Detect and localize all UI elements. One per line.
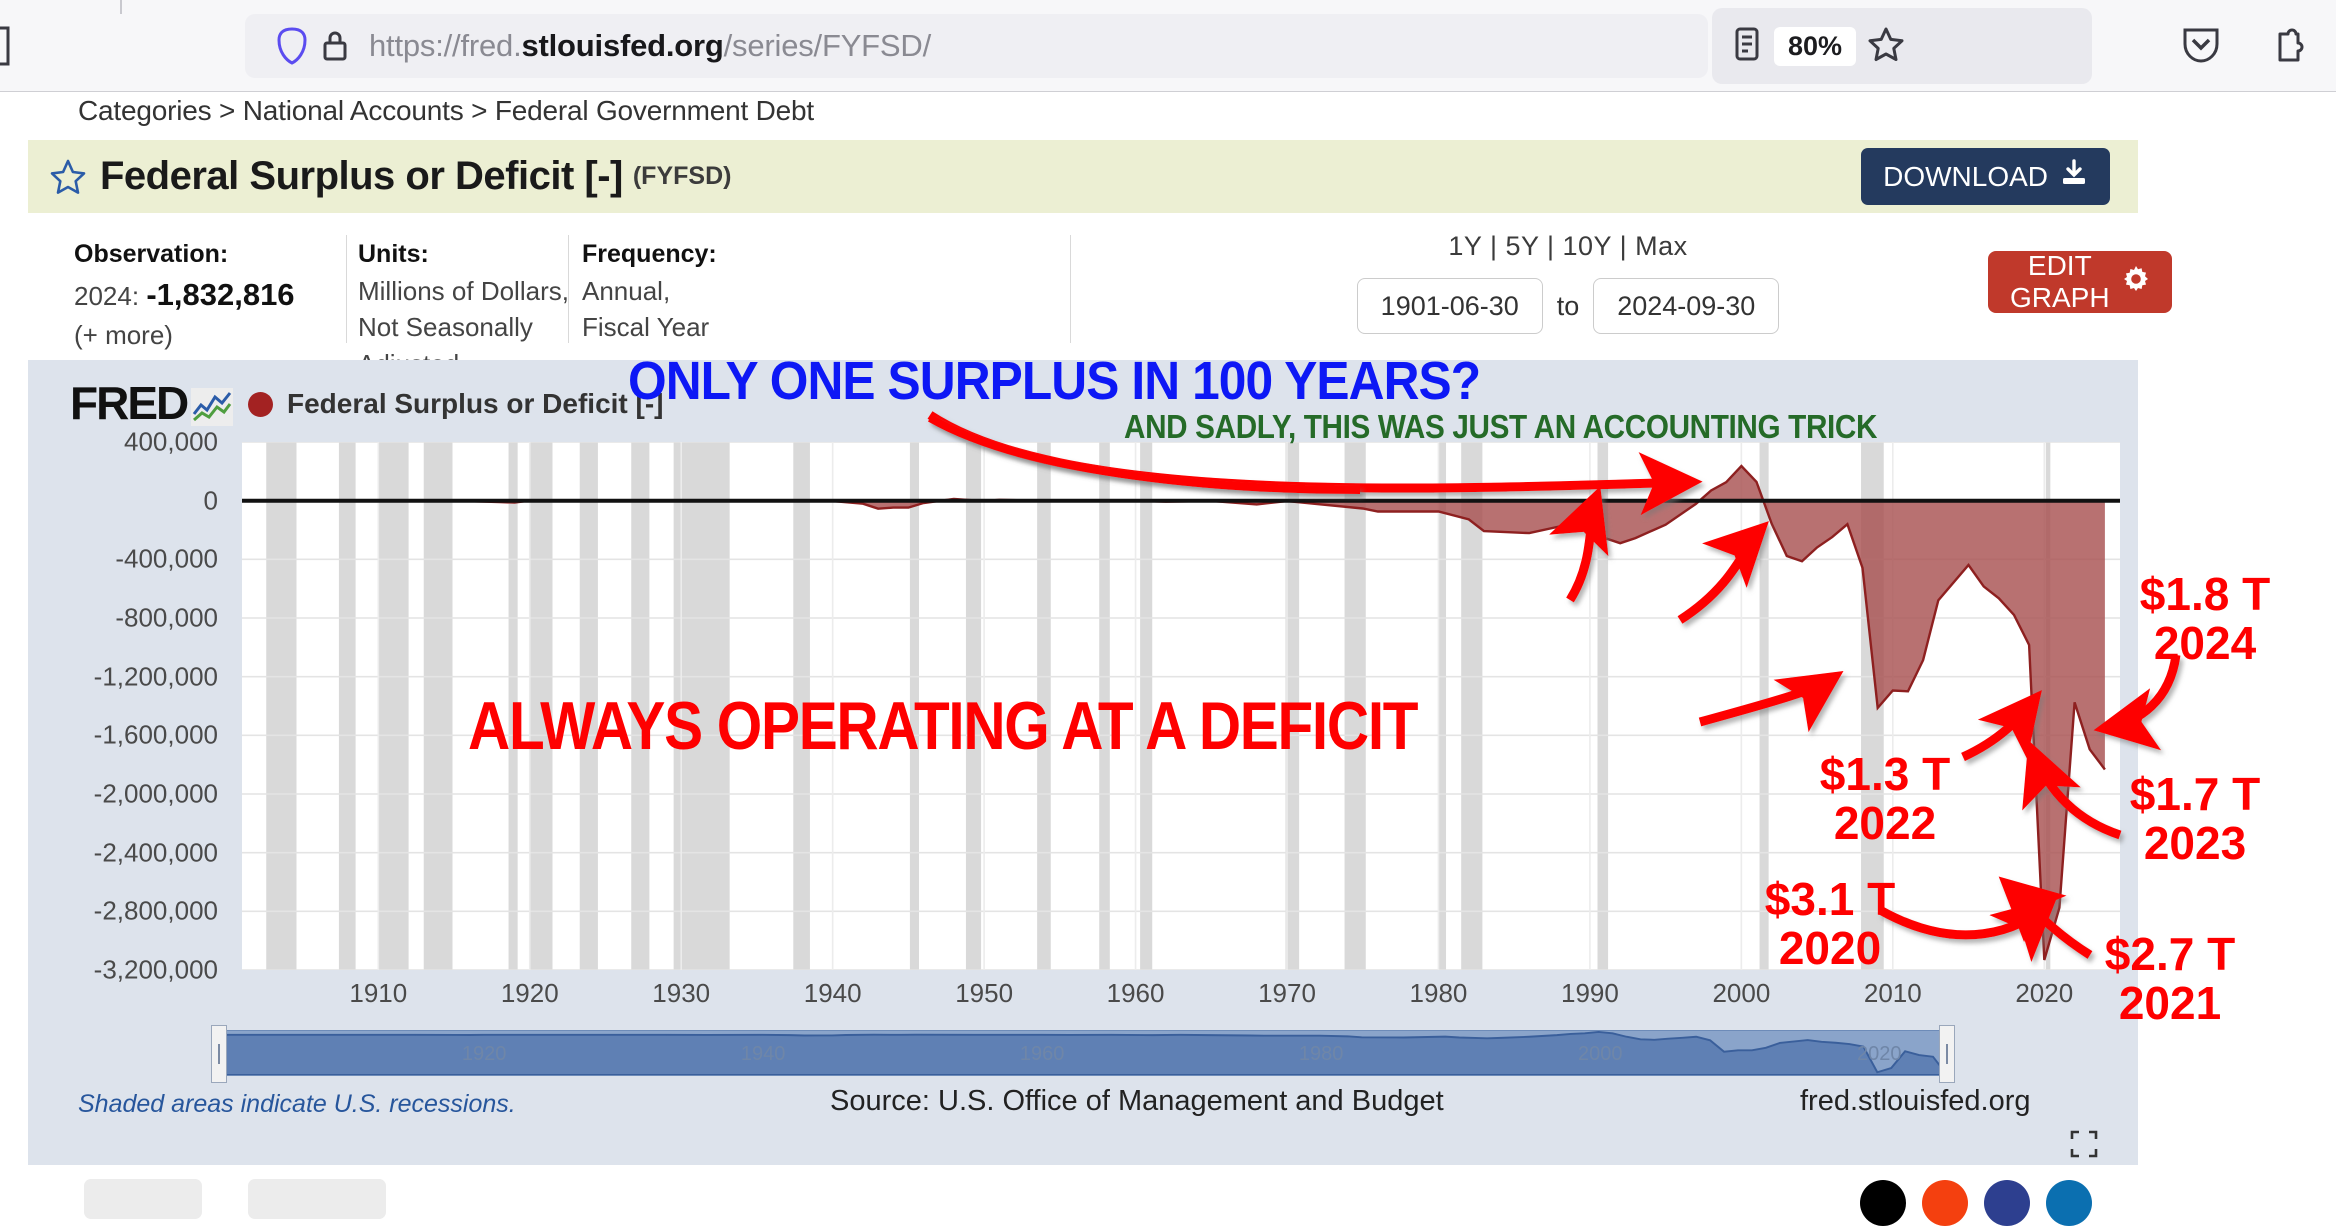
series-id: (FYFSD) <box>633 162 732 191</box>
series-title-band: Federal Surplus or Deficit [-] (FYFSD) D… <box>28 140 2138 213</box>
range-to-label: to <box>1557 291 1580 322</box>
x-tick-1990: 1990 <box>1561 978 1619 1009</box>
share-icon-x[interactable] <box>1860 1180 1906 1226</box>
zoom-level-badge[interactable]: 80% <box>1774 27 1856 66</box>
breadcrumb-separator: > <box>219 95 235 126</box>
callout-2023-year: 2023 <box>2120 819 2270 868</box>
tab-edge-stub <box>0 22 14 70</box>
minimap-tick-1920: 1920 <box>462 1043 507 1066</box>
tab-divider <box>120 0 122 14</box>
meta-observation-more[interactable]: (+ more) <box>74 317 354 354</box>
shield-icon[interactable] <box>269 26 315 66</box>
urlbar-actions: 80% <box>1712 8 2092 84</box>
edit-graph-button[interactable]: EDIT GRAPH <box>1988 251 2172 313</box>
y-tick--2000000: -2,000,000 <box>94 779 218 810</box>
meta-frequency-heading: Frequency: <box>582 237 782 273</box>
download-button[interactable]: DOWNLOAD <box>1861 148 2110 205</box>
x-tick-1910: 1910 <box>349 978 407 1009</box>
y-tick-400000: 400,000 <box>124 427 218 458</box>
edit-graph-button-label: EDIT GRAPH <box>2010 250 2110 314</box>
browser-chrome: https://fred.stlouisfed.org/series/FYFSD… <box>0 0 2336 92</box>
callout-2023-amount: $1.7 T <box>2120 770 2270 819</box>
bottom-button-left[interactable] <box>84 1179 202 1219</box>
meta-divider <box>568 235 569 343</box>
y-tick--1200000: -1,200,000 <box>94 661 218 692</box>
x-tick-1960: 1960 <box>1107 978 1165 1009</box>
x-tick-2000: 2000 <box>1712 978 1770 1009</box>
callout-2023: $1.7 T 2023 <box>2120 770 2270 868</box>
breadcrumb-item-federal-government-debt[interactable]: Federal Government Debt <box>495 95 814 126</box>
graph-panel: FRED Federal Surplus or Deficit [-] 400,… <box>28 360 2138 1165</box>
reader-view-icon[interactable] <box>1730 24 1764 69</box>
meta-observation-heading: Observation: <box>74 237 354 273</box>
pocket-icon[interactable] <box>2180 22 2222 71</box>
y-tick--3200000: -3,200,000 <box>94 955 218 986</box>
meta-units-line1: Millions of Dollars, <box>358 273 578 310</box>
fred-wordmark: FRED <box>70 382 187 426</box>
series-meta-row: Observation: 2024: -1,832,816 (+ more) U… <box>28 213 2138 358</box>
x-tick-1940: 1940 <box>804 978 862 1009</box>
download-icon <box>2060 159 2088 194</box>
star-bookmark-icon[interactable] <box>1866 24 1906 69</box>
range-to-input[interactable] <box>1593 278 1779 334</box>
y-tick--2400000: -2,400,000 <box>94 837 218 868</box>
y-tick--800000: -800,000 <box>115 603 218 634</box>
x-axis-tick-labels: 1910192019301940195019601970198019902000… <box>242 978 2120 1018</box>
minimap-tick-1980: 1980 <box>1299 1043 1344 1066</box>
x-tick-1980: 1980 <box>1410 978 1468 1009</box>
chart-legend: Federal Surplus or Deficit [-] <box>248 388 664 420</box>
range-preset-links[interactable]: 1Y | 5Y | 10Y | Max <box>1358 231 1778 262</box>
callout-2024-amount: $1.8 T <box>2135 570 2275 619</box>
lock-icon[interactable] <box>315 27 355 65</box>
meta-observation-value-row: 2024: -1,832,816 <box>74 273 354 317</box>
meta-frequency-line1: Annual, <box>582 273 782 310</box>
minimap-tick-2000: 2000 <box>1578 1043 1623 1066</box>
callout-2024-year: 2024 <box>2135 619 2275 668</box>
url-bar[interactable]: https://fred.stlouisfed.org/series/FYFSD… <box>245 14 1708 78</box>
plot-wrapper[interactable] <box>242 442 2120 970</box>
extensions-icon[interactable] <box>2268 22 2310 71</box>
breadcrumb-item-categories[interactable]: Categories <box>78 95 211 126</box>
x-tick-1970: 1970 <box>1258 978 1316 1009</box>
minimap-tick-1960: 1960 <box>1020 1043 1065 1066</box>
x-tick-1920: 1920 <box>501 978 559 1009</box>
y-tick--2800000: -2,800,000 <box>94 896 218 927</box>
breadcrumb-item-national-accounts[interactable]: National Accounts <box>243 95 464 126</box>
x-tick-1950: 1950 <box>955 978 1013 1009</box>
source-note: Source: U.S. Office of Management and Bu… <box>830 1085 1444 1118</box>
minimap-handle-left[interactable] <box>211 1025 227 1083</box>
breadcrumb: Categories > National Accounts > Federal… <box>78 95 814 127</box>
site-note: fred.stlouisfed.org <box>1800 1085 2031 1118</box>
callout-2024: $1.8 T 2024 <box>2135 570 2275 668</box>
y-tick--400000: -400,000 <box>115 544 218 575</box>
minimap-tick-2020: 2020 <box>1857 1043 1902 1066</box>
favorite-star-icon[interactable] <box>48 157 88 197</box>
toolbar-extras <box>2180 8 2310 84</box>
meta-frequency: Frequency: Annual, Fiscal Year <box>582 237 782 346</box>
y-axis-tick-labels: 400,0000-400,000-800,000-1,200,000-1,600… <box>28 442 228 970</box>
legend-series-label: Federal Surplus or Deficit [-] <box>287 388 664 420</box>
range-from-input[interactable] <box>1357 278 1543 334</box>
recession-note[interactable]: Shaded areas indicate U.S. recessions. <box>78 1090 516 1119</box>
gear-icon <box>2122 265 2150 300</box>
minimap-handle-right[interactable] <box>1939 1025 1955 1083</box>
share-icon-linkedin[interactable] <box>2046 1180 2092 1226</box>
meta-observation-value: -1,832,816 <box>146 277 294 312</box>
x-tick-1930: 1930 <box>652 978 710 1009</box>
meta-units-heading: Units: <box>358 237 578 273</box>
x-tick-2010: 2010 <box>1864 978 1922 1009</box>
share-icon-reddit[interactable] <box>1922 1180 1968 1226</box>
meta-frequency-line2: Fiscal Year <box>582 309 782 346</box>
fred-chart-mark-icon <box>191 388 233 426</box>
y-tick--1600000: -1,600,000 <box>94 720 218 751</box>
date-range-tools: 1Y | 5Y | 10Y | Max to <box>1358 231 1778 334</box>
chart-range-minimap[interactable]: 192019401960198020002020 <box>218 1030 1948 1076</box>
range-inputs: to <box>1358 278 1778 334</box>
y-tick-0: 0 <box>204 485 218 516</box>
meta-divider <box>346 235 347 343</box>
meta-divider <box>1070 235 1071 343</box>
meta-observation-year: 2024: <box>74 281 139 311</box>
legend-color-swatch <box>248 392 273 417</box>
fred-logo: FRED <box>70 382 233 426</box>
fullscreen-icon[interactable] <box>2070 1130 2098 1158</box>
breadcrumb-separator: > <box>471 95 487 126</box>
page-title: Federal Surplus or Deficit [-] <box>100 154 623 199</box>
share-icon-facebook[interactable] <box>1984 1180 2030 1226</box>
x-tick-2020: 2020 <box>2015 978 2073 1009</box>
minimap-tick-1940: 1940 <box>741 1043 786 1066</box>
plot-svg[interactable] <box>242 442 2120 970</box>
url-text[interactable]: https://fred.stlouisfed.org/series/FYFSD… <box>369 28 931 64</box>
bottom-button-right[interactable] <box>248 1179 386 1219</box>
download-button-label: DOWNLOAD <box>1883 161 2048 193</box>
